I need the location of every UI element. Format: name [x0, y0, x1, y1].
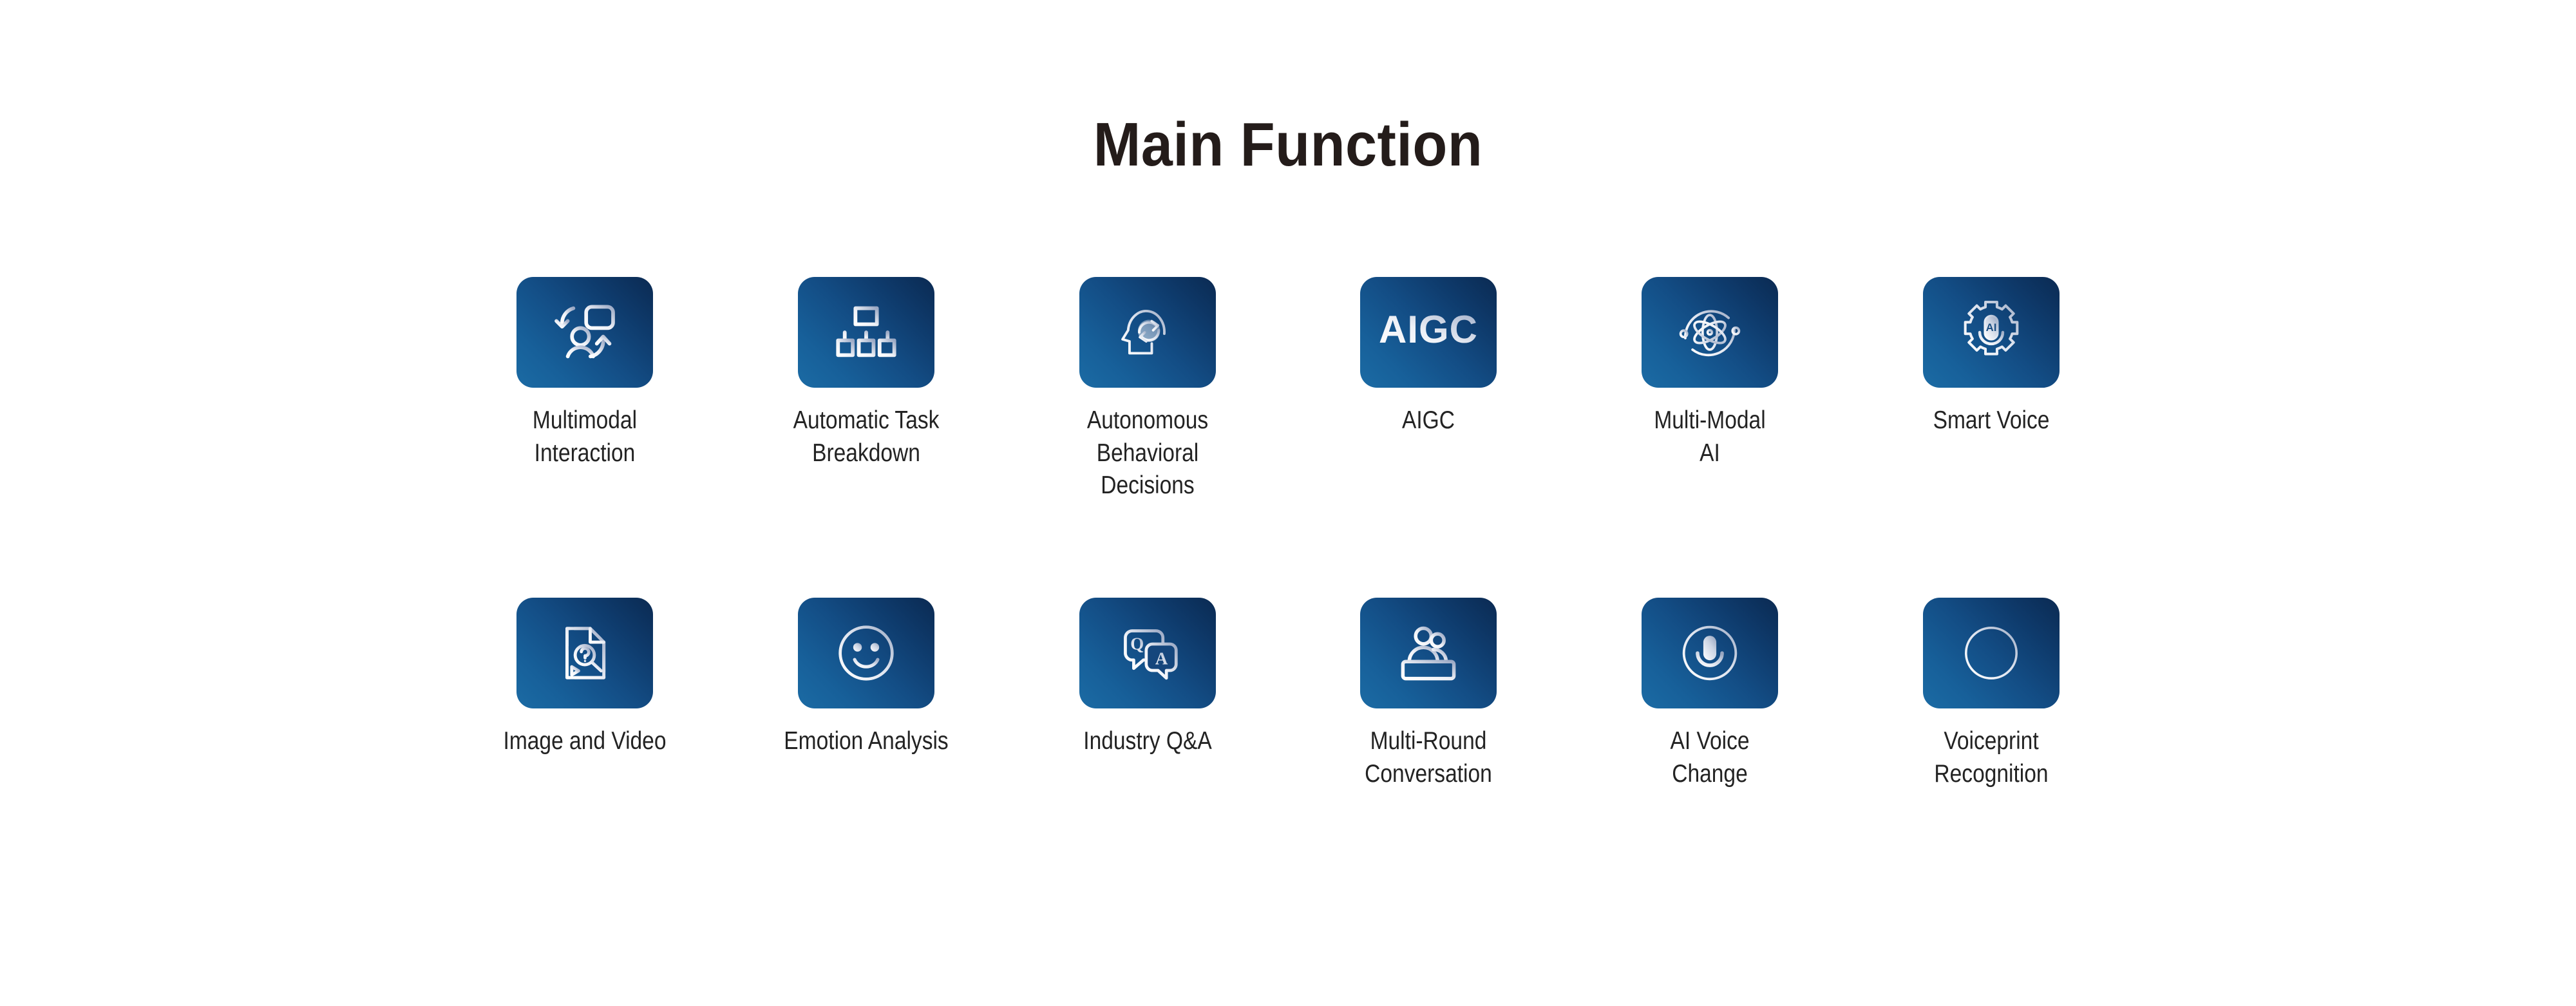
- task-hierarchy-icon: [833, 299, 900, 366]
- feature-tile[interactable]: [1642, 598, 1778, 708]
- feature-tile[interactable]: [1642, 277, 1778, 388]
- feature-tile[interactable]: [798, 598, 934, 708]
- document-search-video-icon: [551, 619, 619, 687]
- voiceprint-waveform-icon: [1955, 617, 2027, 689]
- feature-card-autonomous-behavioral-decisions[interactable]: Autonomous Behavioral Decisions: [1007, 277, 1288, 502]
- feature-card-emotion-analysis[interactable]: Emotion Analysis: [726, 598, 1007, 758]
- feature-tile[interactable]: [516, 277, 653, 388]
- feature-tile[interactable]: AIGC: [1360, 277, 1497, 388]
- head-refresh-icon: [1113, 298, 1182, 367]
- feature-label: Multi-Modal AI: [1593, 404, 1826, 470]
- feature-label: Image and Video: [469, 725, 701, 758]
- feature-card-multi-modal-ai[interactable]: Multi-Modal AI: [1569, 277, 1851, 470]
- aigc-text-icon: AIGC: [1374, 307, 1483, 358]
- feature-label: Industry Q&A: [1031, 725, 1264, 758]
- smiley-face-icon: [830, 617, 902, 689]
- feature-card-voiceprint-recognition[interactable]: Voiceprint Recognition: [1850, 598, 2132, 790]
- feature-row-1: Multimodal Interaction: [444, 277, 2132, 580]
- main-function-page: Main Function: [0, 0, 2576, 1006]
- atom-orbit-icon: [1674, 296, 1746, 368]
- feature-label: Automatic Task Breakdown: [750, 404, 982, 470]
- feature-tile[interactable]: [516, 598, 653, 708]
- feature-row-2: Image and Video Emotion Analysis: [444, 598, 2132, 790]
- feature-grid: Multimodal Interaction: [444, 277, 2132, 790]
- feature-card-ai-voice-change[interactable]: AI Voice Change: [1569, 598, 1851, 790]
- gear-mic-ai-text: AI: [1985, 321, 1996, 334]
- feature-tile[interactable]: Q A: [1079, 598, 1216, 708]
- feature-tile[interactable]: [1360, 598, 1497, 708]
- feature-card-automatic-task-breakdown[interactable]: Automatic Task Breakdown: [726, 277, 1007, 470]
- qa-bubble-q-text: Q: [1130, 634, 1144, 654]
- microphone-circle-icon: [1674, 617, 1746, 689]
- feature-card-multi-round-conversation[interactable]: Multi-Round Conversation: [1288, 598, 1569, 790]
- feature-label: Voiceprint Recognition: [1875, 725, 2107, 790]
- feature-tile[interactable]: AI: [1923, 277, 2060, 388]
- feature-card-multimodal-interaction[interactable]: Multimodal Interaction: [444, 277, 726, 470]
- aigc-tile-text: AIGC: [1379, 308, 1478, 351]
- feature-tile[interactable]: [1079, 277, 1216, 388]
- page-title: Main Function: [103, 109, 2473, 180]
- feature-card-smart-voice[interactable]: AI Smart Voice: [1850, 277, 2132, 437]
- feature-label: Multi-Round Conversation: [1312, 725, 1545, 790]
- feature-label: AIGC: [1312, 404, 1545, 437]
- gear-microphone-ai-icon: AI: [1955, 296, 2027, 368]
- feature-card-aigc[interactable]: AIGC AIGC: [1288, 277, 1569, 437]
- feature-card-image-and-video[interactable]: Image and Video: [444, 598, 726, 758]
- qa-bubble-a-text: A: [1155, 649, 1168, 668]
- feature-label: Multimodal Interaction: [469, 404, 701, 470]
- panel-speakers-icon: [1393, 618, 1464, 688]
- feature-tile[interactable]: [1923, 598, 2060, 708]
- qa-speech-bubbles-icon: Q A: [1113, 618, 1182, 688]
- multimodal-interaction-icon: [549, 297, 620, 368]
- feature-card-industry-qa[interactable]: Q A Industry Q&A: [1007, 598, 1288, 758]
- feature-label: AI Voice Change: [1593, 725, 1826, 790]
- feature-tile[interactable]: [798, 277, 934, 388]
- feature-label: Smart Voice: [1875, 404, 2107, 437]
- feature-label: Emotion Analysis: [750, 725, 982, 758]
- feature-label: Autonomous Behavioral Decisions: [1031, 404, 1264, 502]
